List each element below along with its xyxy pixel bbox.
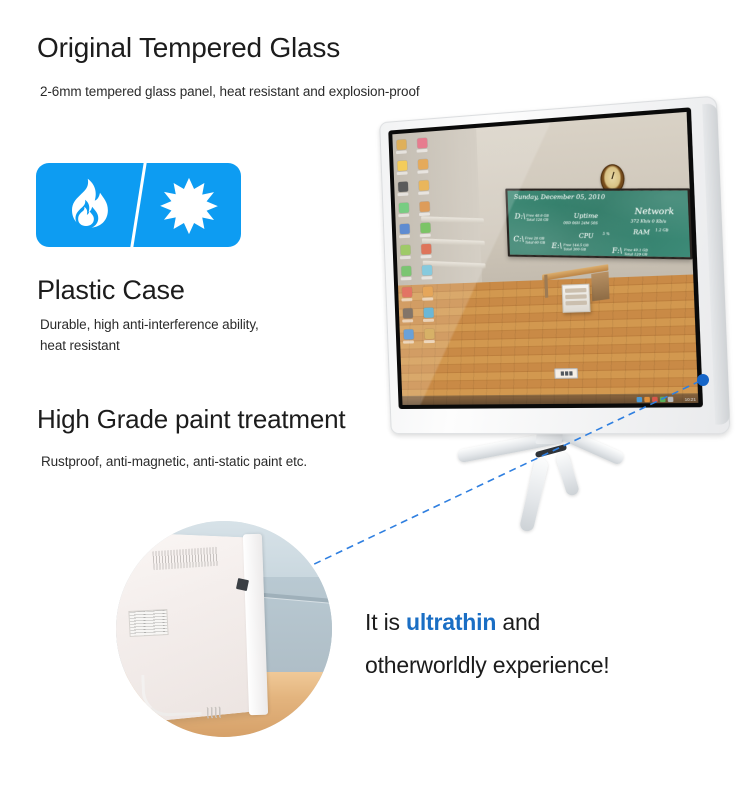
- tray-icon[interactable]: [668, 396, 674, 401]
- feature-heading-tempered-glass: Original Tempered Glass: [37, 33, 340, 64]
- icon-label: [396, 150, 407, 153]
- chalkboard-drive-value: Free 48.6 GB Total 128 GB: [526, 213, 549, 221]
- icon-label: [403, 340, 414, 343]
- icon-label: [424, 340, 435, 343]
- chalkboard-system-widget: Sunday, December 05, 2010 Network 372 Kb…: [505, 188, 692, 259]
- chalkboard-ram-title: RAM: [633, 230, 650, 237]
- chalkboard-cpu-title: CPU: [579, 234, 594, 241]
- tagline-line-1: It is ultrathin and: [365, 601, 715, 644]
- icon-label: [402, 319, 413, 322]
- chalkboard-drive-name: E:\: [551, 243, 562, 251]
- icon-glyph: [398, 182, 408, 193]
- feature-subtext-paint-treatment: Rustproof, anti-magnetic, anti-static pa…: [41, 452, 307, 473]
- icon-label: [398, 214, 409, 217]
- icon-label: [417, 149, 428, 152]
- chalkboard-network-value: 372 Kb/s 0 Kb/s: [631, 219, 667, 224]
- feature-heading-paint-treatment: High Grade paint treatment: [37, 405, 345, 434]
- chalkboard-drive-value: Free 20 GB Total 60 GB: [525, 236, 545, 245]
- desktop-icon-music[interactable]: [418, 180, 429, 195]
- certification-badge: [36, 163, 241, 247]
- chalkboard-drive-name: D:\: [515, 213, 526, 221]
- chalkboard-network-title: Network: [634, 208, 674, 217]
- monitor-bottom-slots: [206, 706, 222, 718]
- tray-icon[interactable]: [660, 396, 666, 401]
- desktop-icon-editor[interactable]: [419, 201, 430, 216]
- detail-photo-circle: [116, 521, 332, 737]
- feature-subtext-plastic-case-line2: heat resistant: [40, 336, 340, 357]
- desktop-icon-games[interactable]: [402, 308, 413, 322]
- desktop-icon-media[interactable]: [416, 138, 427, 153]
- drive-total: Total 120 GB: [624, 252, 648, 257]
- icon-glyph: [422, 286, 432, 296]
- tagline: It is ultrathin and otherworldly experie…: [365, 601, 715, 686]
- icon-label: [418, 191, 429, 194]
- desktop-icon-grid[interactable]: [395, 135, 442, 343]
- flame-icon: [58, 177, 114, 233]
- chalkboard-cpu-value: 5 %: [603, 233, 610, 237]
- icon-glyph: [396, 139, 406, 150]
- desktop-icon-mail[interactable]: [420, 244, 431, 259]
- chalkboard-ram-value: 1.2 GB: [655, 229, 668, 233]
- icon-glyph: [402, 308, 412, 318]
- icon-label: [400, 256, 411, 259]
- desktop-icon-folder[interactable]: [423, 329, 434, 343]
- tray-icon[interactable]: [636, 396, 642, 401]
- icon-glyph: [417, 138, 427, 149]
- icon-glyph: [420, 223, 430, 234]
- icon-glyph: [403, 329, 413, 339]
- monitor-bezel: Sunday, December 05, 2010 Network 372 Kb…: [379, 96, 730, 435]
- icon-glyph: [399, 224, 409, 235]
- icon-label: [422, 297, 433, 300]
- desktop-icon-terminal[interactable]: [397, 181, 408, 196]
- icon-glyph: [421, 265, 431, 276]
- chalkboard-uptime-value: 00D 06H 24M 50S: [563, 222, 598, 226]
- callout-anchor-dot: [697, 374, 709, 386]
- icon-label: [399, 235, 410, 238]
- monitor-stand-leg-front: [519, 457, 549, 532]
- icon-glyph: [398, 203, 408, 214]
- desktop-mini-widget[interactable]: [554, 368, 578, 379]
- taskbar-tray-icons[interactable]: [636, 396, 673, 402]
- icon-label: [419, 212, 430, 215]
- icon-glyph: [418, 180, 428, 191]
- icon-glyph: [421, 244, 431, 255]
- product-label-sticker: [128, 609, 168, 637]
- desktop-icon-office[interactable]: [399, 224, 410, 239]
- desktop-icon-settings[interactable]: [403, 329, 414, 343]
- icon-label: [401, 298, 412, 301]
- tagline-accent-word: ultrathin: [406, 609, 496, 635]
- chalkboard-date: Sunday, December 05, 2010: [514, 195, 605, 202]
- tagline-line1-after: and: [496, 609, 540, 635]
- icon-glyph: [419, 201, 429, 212]
- feature-subtext-tempered-glass: 2-6mm tempered glass panel, heat resista…: [40, 82, 420, 103]
- icon-label: [417, 170, 428, 173]
- cabinet-drawer: [565, 294, 587, 299]
- desktop-icon-archive[interactable]: [399, 245, 410, 260]
- room-desk-side-panel: [591, 271, 609, 301]
- icon-glyph: [397, 160, 407, 171]
- tagline-line1-before: It is: [365, 609, 406, 635]
- desktop-icon-tools[interactable]: [423, 307, 434, 321]
- desktop-icon-photo[interactable]: [419, 223, 430, 238]
- icon-glyph: [401, 266, 411, 276]
- chalkboard-uptime-title: Uptime: [574, 214, 599, 221]
- icon-label: [421, 276, 432, 279]
- chalkboard-drive-value: Free 49.1 GB Total 120 GB: [624, 248, 648, 257]
- tagline-line-2: otherworldly experience!: [365, 644, 715, 687]
- icon-glyph: [400, 245, 410, 255]
- tray-icon[interactable]: [644, 396, 650, 401]
- feature-subtext-plastic-case: Durable, high anti-interference ability,…: [40, 315, 340, 357]
- desktop-taskbar[interactable]: 10:21: [402, 393, 698, 405]
- feature-heading-plastic-case: Plastic Case: [37, 276, 185, 306]
- desktop-wallpaper-3d-room: Sunday, December 05, 2010 Network 372 Kb…: [392, 112, 698, 405]
- widget-block: [569, 371, 572, 375]
- desktop-icon-trash[interactable]: [395, 139, 406, 154]
- widget-block: [560, 371, 563, 375]
- monitor-screen: Sunday, December 05, 2010 Network 372 Kb…: [388, 107, 703, 409]
- icon-label: [397, 193, 408, 196]
- room-drawer-cabinet: [562, 284, 591, 313]
- chalkboard-drive-name: F:\: [612, 248, 623, 256]
- monitor-stand-foot: [141, 673, 202, 717]
- monitor-stand-leg-back: [555, 451, 580, 497]
- desktop-icon-reader[interactable]: [401, 287, 412, 301]
- icon-glyph: [424, 329, 434, 339]
- cabinet-drawer: [565, 288, 587, 293]
- desktop-icon-store[interactable]: [400, 266, 411, 281]
- feature-subtext-plastic-case-line1: Durable, high anti-interference ability,: [40, 315, 340, 336]
- chalkboard-drive-value: Free 144.5 GB Total 300 GB: [563, 243, 589, 252]
- drive-total: Total 300 GB: [563, 247, 588, 252]
- desktop-icon-files[interactable]: [417, 159, 428, 174]
- icon-label: [420, 234, 431, 237]
- widget-block: [564, 371, 567, 375]
- desktop-icon-player[interactable]: [398, 203, 409, 218]
- icon-label: [397, 171, 408, 174]
- product-feature-page: Original Tempered Glass 2-6mm tempered g…: [0, 0, 750, 796]
- cabinet-drawer: [565, 301, 587, 306]
- desktop-icon-gallery[interactable]: [422, 286, 433, 301]
- icon-glyph: [423, 308, 433, 318]
- explosion-burst-icon: [160, 177, 218, 235]
- drive-total: Total 60 GB: [525, 240, 545, 244]
- badge-divider: [130, 163, 148, 247]
- chalkboard-drive-name: C:\: [513, 236, 524, 244]
- drive-total: Total 128 GB: [526, 218, 549, 222]
- monitor-front-view: Sunday, December 05, 2010 Network 372 Kb…: [385, 122, 710, 522]
- tray-icon[interactable]: [652, 396, 658, 401]
- icon-label: [401, 277, 412, 280]
- desktop-icon-browser[interactable]: [396, 160, 407, 175]
- icon-glyph: [402, 287, 412, 297]
- desktop-icon-notes[interactable]: [421, 265, 432, 280]
- icon-label: [421, 255, 432, 258]
- icon-glyph: [417, 159, 427, 170]
- icon-label: [423, 319, 434, 322]
- taskbar-clock: 10:21: [684, 396, 696, 401]
